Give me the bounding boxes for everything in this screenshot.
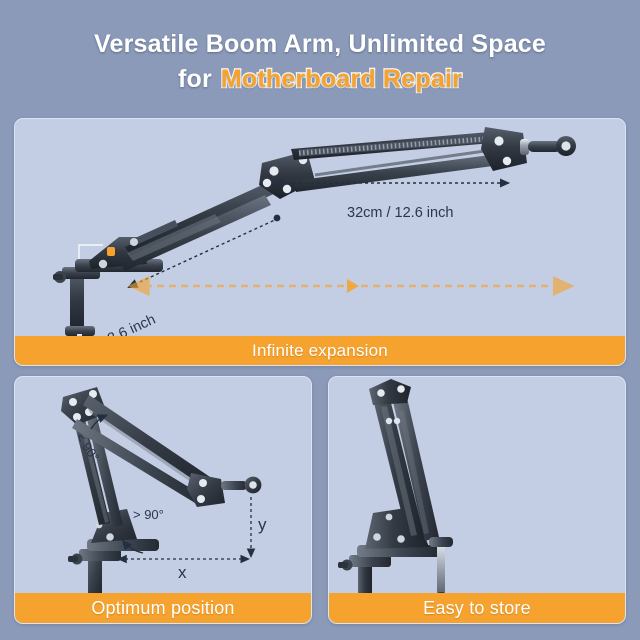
boom-arm-optimum-diagram — [15, 377, 312, 624]
title-block: Versatile Boom Arm, Unlimited Space for … — [0, 0, 640, 118]
horizontal-reach-label: x — [178, 563, 187, 583]
panel-optimum-position: < 90° > 90° x y Optimum position — [14, 376, 312, 624]
caption-infinite-expansion: Infinite expansion — [15, 336, 625, 365]
title-line-2: for Motherboard Repair — [178, 63, 462, 96]
title-highlight: Motherboard Repair — [221, 63, 462, 96]
store-illustration — [329, 377, 625, 623]
boom-arm-extended-diagram — [15, 119, 626, 366]
infinite-reach-arrow — [133, 279, 571, 293]
main-illustration: 360 ° 32cm / 12.6 inch 32cm / 12.6 inch — [15, 119, 625, 365]
caption-optimum-position: Optimum position — [15, 593, 311, 623]
vertical-drop-label: y — [258, 515, 267, 535]
arm-head-joint — [187, 473, 261, 507]
panel-infinite-expansion: 360 ° 32cm / 12.6 inch 32cm / 12.6 inch … — [14, 118, 626, 366]
badge-360-label: 360 — [55, 365, 82, 366]
title-line-1: Versatile Boom Arm, Unlimited Space — [94, 28, 546, 61]
arm-head-joint — [481, 127, 576, 171]
lower-joint-angle-label: > 90° — [133, 507, 164, 522]
caption-easy-to-store: Easy to store — [329, 593, 625, 623]
boom-arm-folded-diagram — [329, 377, 626, 624]
lower-arm-linkage — [119, 181, 278, 271]
title-prefix: for — [178, 63, 212, 96]
upper-arm-length-label: 32cm / 12.6 inch — [347, 205, 453, 221]
panel-easy-to-store: Easy to store — [328, 376, 626, 624]
optimum-illustration: < 90° > 90° x y — [15, 377, 311, 623]
